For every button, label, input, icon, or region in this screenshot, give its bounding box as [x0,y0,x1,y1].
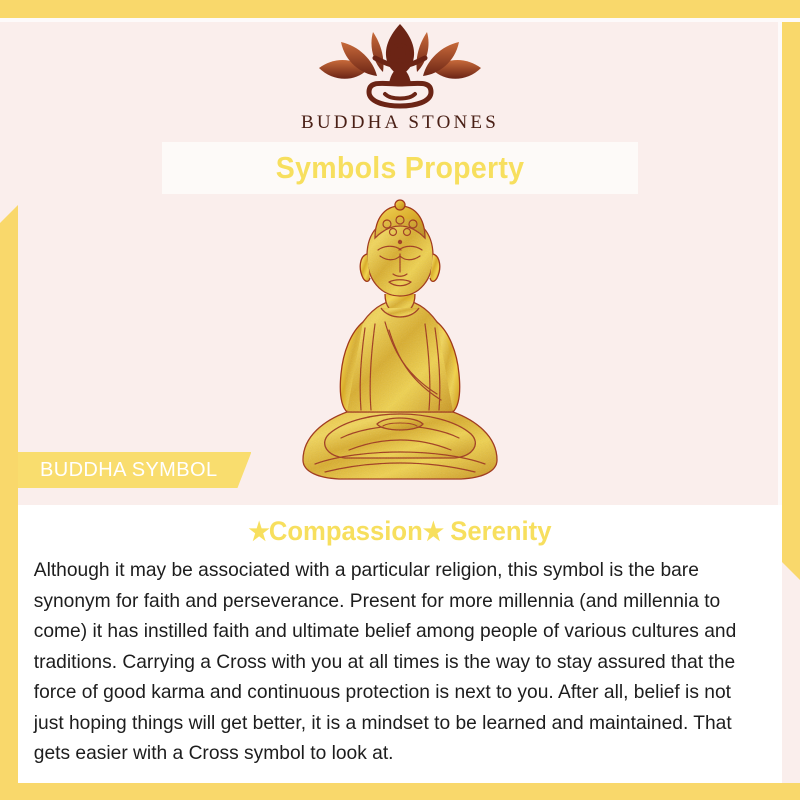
golden-seated-buddha-illustration [285,198,515,488]
star-icon-right: ★ [423,518,443,546]
buddha-symbol-tag: BUDDHA SYMBOL [18,452,251,488]
lotus-meditation-icon [305,22,495,110]
subheading-word-serenity: Serenity [450,516,551,546]
content-body-text: Although it may be associated with a par… [18,547,771,769]
brand-name: BUDDHA STONES [0,112,800,134]
frame-band-bottom [0,783,800,800]
content-card: ★Compassion★ Serenity Although it may be… [18,505,782,783]
brand-header: BUDDHA STONES [0,22,800,134]
frame-band-top [0,0,800,18]
page-title: Symbols Property [276,150,525,186]
buddha-symbol-tag-label: BUDDHA SYMBOL [40,459,217,482]
content-subheading: ★Compassion★ Serenity [37,505,763,547]
title-banner: Symbols Property [162,142,638,194]
promotional-infographic-page: BUDDHA STONES Symbols Property [0,0,800,800]
subheading-word-compassion: Compassion [269,516,423,546]
star-icon-left: ★ [248,518,268,546]
